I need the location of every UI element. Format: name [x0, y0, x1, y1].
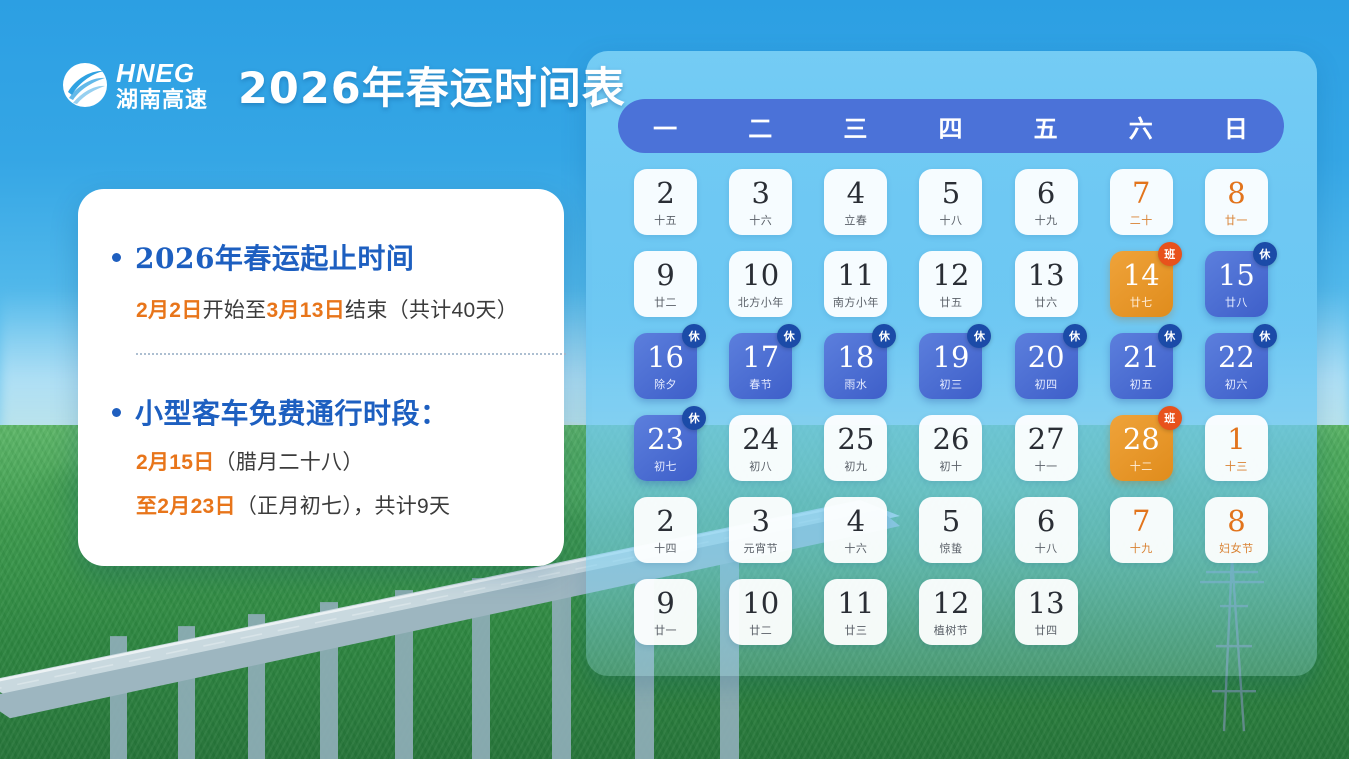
- lunar-label: 立春: [844, 215, 867, 226]
- calendar-day-cell[interactable]: 7二十: [1110, 169, 1173, 235]
- day-number: 22: [1218, 343, 1255, 372]
- calendar-day-cell[interactable]: 13廿六: [1015, 251, 1078, 317]
- section1-title: 2026年春运起止时间: [135, 237, 414, 277]
- day-number: 15: [1218, 261, 1255, 290]
- calendar-day-cell[interactable]: 23初七休: [634, 415, 697, 481]
- calendar-day-cell[interactable]: 8廿一: [1205, 169, 1268, 235]
- calendar-day-cell[interactable]: 27十一: [1015, 415, 1078, 481]
- lunar-label: 除夕: [654, 379, 677, 390]
- day-number: 5: [942, 179, 960, 208]
- rest-day-badge: 休: [777, 324, 801, 348]
- work-day-badge: 班: [1158, 406, 1182, 430]
- calendar-day-cell[interactable]: 7十九: [1110, 497, 1173, 563]
- card-divider: [136, 353, 566, 355]
- calendar-day-cell[interactable]: 13廿四: [1015, 579, 1078, 645]
- calendar-day-cell[interactable]: 14廿七班: [1110, 251, 1173, 317]
- day-number: 2: [656, 507, 674, 536]
- day-number: 27: [1028, 425, 1065, 454]
- rest-day-badge: 休: [967, 324, 991, 348]
- day-number: 13: [1028, 261, 1065, 290]
- day-number: 5: [942, 507, 960, 536]
- lunar-label: 十九: [1035, 215, 1058, 226]
- lunar-label: 初七: [654, 461, 677, 472]
- section1-heading-row: 2026年春运起止时间: [112, 237, 530, 277]
- day-number: 3: [751, 179, 769, 208]
- calendar-day-cell[interactable]: 6十九: [1015, 169, 1078, 235]
- lunar-label: 廿二: [654, 297, 677, 308]
- free-passage-end-part-0: 至2月23日: [136, 495, 236, 518]
- lunar-label: 廿一: [1225, 215, 1248, 226]
- day-number: 3: [751, 507, 769, 536]
- day-number: 10: [742, 589, 779, 618]
- page-title: 2026年春运时间表: [238, 54, 626, 116]
- lunar-label: 廿一: [654, 625, 677, 636]
- section2-line1: 2月15日（腊月二十八）: [112, 446, 530, 476]
- calendar-grid[interactable]: 2十五3十六4立春5十八6十九7二十8廿一9廿二10北方小年11南方小年12廿五…: [618, 169, 1284, 645]
- day-number: 19: [933, 343, 970, 372]
- section2-line2: 至2月23日（正月初七），共计9天: [112, 490, 530, 520]
- weekday-label-1: 二: [713, 109, 808, 144]
- calendar-day-cell[interactable]: 1十三: [1205, 415, 1268, 481]
- day-number: 24: [742, 425, 779, 454]
- logo-cn-text: 湖南高速: [116, 89, 208, 111]
- schedule-text-part-2: 3月13日: [266, 299, 345, 322]
- rest-day-badge: 休: [1253, 324, 1277, 348]
- day-number: 4: [847, 507, 865, 536]
- lunar-label: 廿二: [749, 625, 772, 636]
- lunar-label: 初十: [939, 461, 962, 472]
- lunar-label: 初九: [844, 461, 867, 472]
- lunar-label: 十八: [939, 215, 962, 226]
- lunar-label: 南方小年: [833, 297, 879, 308]
- page-header: HNEG 湖南高速 2026年春运时间表: [62, 54, 626, 116]
- work-day-badge: 班: [1158, 242, 1182, 266]
- brand-logo: HNEG 湖南高速: [62, 60, 208, 111]
- day-number: 8: [1227, 179, 1245, 208]
- calendar-day-cell[interactable]: 12植树节: [919, 579, 982, 645]
- calendar-day-cell[interactable]: 10廿二: [729, 579, 792, 645]
- rest-day-badge: 休: [1063, 324, 1087, 348]
- section2-title: 小型客车免费通行时段：: [135, 392, 449, 432]
- day-number: 10: [742, 261, 779, 290]
- info-section-free-passage: 小型客车免费通行时段： 2月15日（腊月二十八） 至2月23日（正月初七），共计…: [112, 392, 530, 520]
- calendar-day-cell[interactable]: 16除夕休: [634, 333, 697, 399]
- hneg-swoosh-logo-icon: [62, 62, 108, 108]
- schedule-text-part-3: 结束（共计40天）: [345, 299, 518, 322]
- day-number: 6: [1037, 179, 1055, 208]
- day-number: 18: [837, 343, 874, 372]
- free-passage-end-part-1: （正月初七），共计9天: [236, 495, 450, 518]
- calendar-day-cell[interactable]: 10北方小年: [729, 251, 792, 317]
- lunar-label: 十二: [1130, 461, 1153, 472]
- calendar-day-cell[interactable]: 4立春: [824, 169, 887, 235]
- day-number: 20: [1028, 343, 1065, 372]
- info-section-schedule: 2026年春运起止时间 2月2日开始至3月13日结束（共计40天）: [112, 237, 530, 324]
- calendar-day-cell[interactable]: 12廿五: [919, 251, 982, 317]
- lunar-label: 十五: [654, 215, 677, 226]
- calendar-day-cell[interactable]: 6十八: [1015, 497, 1078, 563]
- lunar-label: 廿七: [1130, 297, 1153, 308]
- day-number: 17: [742, 343, 779, 372]
- lunar-label: 十八: [1035, 543, 1058, 554]
- calendar-day-cell[interactable]: 19初三休: [919, 333, 982, 399]
- calendar-day-cell[interactable]: 17春节休: [729, 333, 792, 399]
- lunar-label: 初八: [749, 461, 772, 472]
- bullet-dot-icon: [112, 253, 121, 262]
- rest-day-badge: 休: [682, 324, 706, 348]
- lunar-label: 北方小年: [738, 297, 784, 308]
- calendar-day-cell[interactable]: 3元宵节: [729, 497, 792, 563]
- day-number: 11: [837, 261, 874, 290]
- logo-en-text: HNEG: [116, 60, 208, 86]
- calendar-cell-empty: [1110, 579, 1173, 645]
- section2-heading-row: 小型客车免费通行时段：: [112, 392, 530, 432]
- calendar-day-cell[interactable]: 2十四: [634, 497, 697, 563]
- calendar-day-cell[interactable]: 28十二班: [1110, 415, 1173, 481]
- free-passage-start-part-1: （腊月二十八）: [215, 451, 364, 474]
- section1-body: 2月2日开始至3月13日结束（共计40天）: [112, 294, 530, 324]
- lunar-label: 妇女节: [1219, 543, 1254, 554]
- lunar-label: 植树节: [934, 625, 969, 636]
- weekday-header-bar: 一二三四五六日: [618, 99, 1284, 153]
- calendar-day-cell[interactable]: 5十八: [919, 169, 982, 235]
- day-number: 26: [933, 425, 970, 454]
- calendar-day-cell[interactable]: 9廿一: [634, 579, 697, 645]
- weekday-label-6: 日: [1189, 109, 1284, 144]
- lunar-label: 十一: [1035, 461, 1058, 472]
- weekday-label-0: 一: [618, 109, 713, 144]
- calendar-cell-empty: [1205, 579, 1268, 645]
- calendar-day-cell[interactable]: 20初四休: [1015, 333, 1078, 399]
- lunar-label: 廿三: [844, 625, 867, 636]
- schedule-text-part-1: 开始至: [203, 299, 267, 322]
- day-number: 6: [1037, 507, 1055, 536]
- day-number: 9: [656, 589, 674, 618]
- lunar-label: 十六: [749, 215, 772, 226]
- weekday-label-3: 四: [903, 109, 998, 144]
- calendar-day-cell[interactable]: 21初五休: [1110, 333, 1173, 399]
- lunar-label: 十三: [1225, 461, 1248, 472]
- day-number: 7: [1132, 507, 1150, 536]
- weekday-label-4: 五: [999, 109, 1094, 144]
- day-number: 21: [1123, 343, 1160, 372]
- lunar-label: 惊蛰: [939, 543, 962, 554]
- day-number: 7: [1132, 179, 1150, 208]
- day-number: 2: [656, 179, 674, 208]
- lunar-label: 二十: [1130, 215, 1153, 226]
- lunar-label: 十九: [1130, 543, 1153, 554]
- calendar-day-cell[interactable]: 11南方小年: [824, 251, 887, 317]
- calendar-day-cell[interactable]: 11廿三: [824, 579, 887, 645]
- lunar-label: 廿四: [1035, 625, 1058, 636]
- calendar-day-cell[interactable]: 8妇女节: [1205, 497, 1268, 563]
- day-number: 12: [933, 589, 970, 618]
- calendar-panel: 一二三四五六日 2十五3十六4立春5十八6十九7二十8廿一9廿二10北方小年11…: [586, 51, 1317, 676]
- lunar-label: 十四: [654, 543, 677, 554]
- day-number: 9: [656, 261, 674, 290]
- day-number: 23: [647, 425, 684, 454]
- rest-day-badge: 休: [682, 406, 706, 430]
- calendar-day-cell[interactable]: 15廿八休: [1205, 251, 1268, 317]
- rest-day-badge: 休: [872, 324, 896, 348]
- lunar-label: 初六: [1225, 379, 1248, 390]
- calendar-day-cell[interactable]: 24初八: [729, 415, 792, 481]
- lunar-label: 初三: [939, 379, 962, 390]
- calendar-day-cell[interactable]: 4十六: [824, 497, 887, 563]
- calendar-day-cell[interactable]: 18雨水休: [824, 333, 887, 399]
- day-number: 12: [933, 261, 970, 290]
- day-number: 25: [837, 425, 874, 454]
- rest-day-badge: 休: [1158, 324, 1182, 348]
- schedule-text-part-0: 2月2日: [136, 299, 203, 322]
- lunar-label: 廿六: [1035, 297, 1058, 308]
- day-number: 28: [1123, 425, 1160, 454]
- lunar-label: 雨水: [844, 379, 867, 390]
- calendar-day-cell[interactable]: 2十五: [634, 169, 697, 235]
- weekday-label-5: 六: [1094, 109, 1189, 144]
- day-number: 13: [1028, 589, 1065, 618]
- calendar-day-cell[interactable]: 26初十: [919, 415, 982, 481]
- rest-day-badge: 休: [1253, 242, 1277, 266]
- day-number: 16: [647, 343, 684, 372]
- bullet-dot-icon: [112, 408, 121, 417]
- calendar-day-cell[interactable]: 3十六: [729, 169, 792, 235]
- info-card: 2026年春运起止时间 2月2日开始至3月13日结束（共计40天） 小型客车免费…: [78, 189, 564, 566]
- day-number: 1: [1227, 425, 1245, 454]
- lunar-label: 春节: [749, 379, 772, 390]
- lunar-label: 廿八: [1225, 297, 1248, 308]
- weekday-label-2: 三: [808, 109, 903, 144]
- lunar-label: 十六: [844, 543, 867, 554]
- lunar-label: 元宵节: [743, 543, 778, 554]
- calendar-day-cell[interactable]: 5惊蛰: [919, 497, 982, 563]
- lunar-label: 初五: [1130, 379, 1153, 390]
- calendar-day-cell[interactable]: 9廿二: [634, 251, 697, 317]
- calendar-day-cell[interactable]: 22初六休: [1205, 333, 1268, 399]
- lunar-label: 初四: [1035, 379, 1058, 390]
- lunar-label: 廿五: [939, 297, 962, 308]
- day-number: 14: [1123, 261, 1160, 290]
- free-passage-start-part-0: 2月15日: [136, 451, 215, 474]
- day-number: 4: [847, 179, 865, 208]
- day-number: 11: [837, 589, 874, 618]
- day-number: 8: [1227, 507, 1245, 536]
- calendar-day-cell[interactable]: 25初九: [824, 415, 887, 481]
